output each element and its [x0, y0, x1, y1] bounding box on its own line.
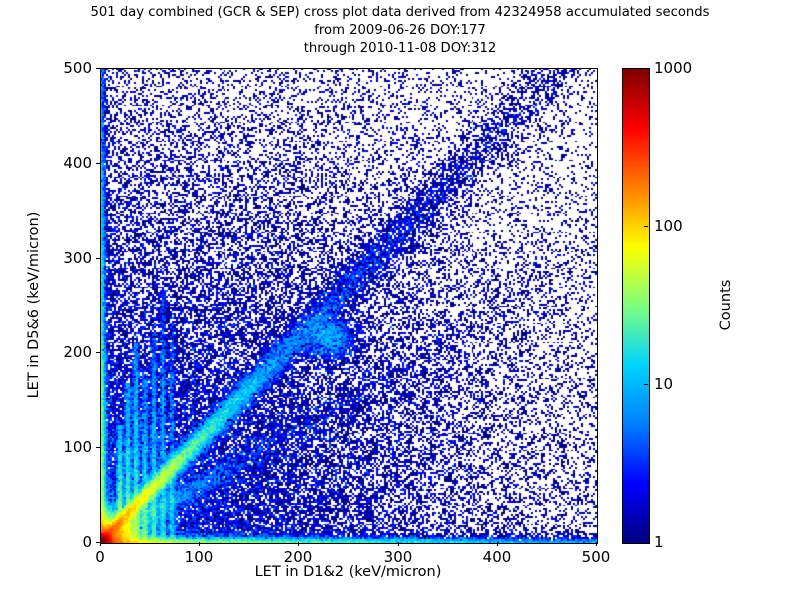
colorbar-label: Counts — [718, 68, 740, 542]
colorbar-tick-label: 1 — [654, 533, 664, 551]
title-line-1: 501 day combined (GCR & SEP) cross plot … — [0, 4, 800, 22]
y-tick-mark — [96, 68, 100, 69]
let-cross-plot-heatmap — [101, 69, 597, 543]
x-axis-label: LET in D1&2 (keV/micron) — [100, 564, 596, 580]
figure-title: 501 day combined (GCR & SEP) cross plot … — [0, 4, 800, 58]
figure-canvas: 501 day combined (GCR & SEP) cross plot … — [0, 0, 800, 600]
colorbar-tick-label: 10 — [654, 375, 673, 393]
y-tick-label: 500 — [63, 59, 92, 77]
colorbar-frame — [622, 68, 650, 544]
colorbar-tick-label: 1000 — [654, 59, 692, 77]
colorbar-tick-label: 100 — [654, 217, 683, 235]
y-tick-label: 100 — [63, 438, 92, 456]
y-tick-label: 200 — [63, 343, 92, 361]
y-tick-mark — [96, 352, 100, 353]
y-tick-mark — [96, 542, 100, 543]
colorbar-tick-mark — [644, 384, 648, 385]
colorbar-tick-mark — [644, 226, 648, 227]
title-line-2: from 2009-06-26 DOY:177 — [0, 22, 800, 40]
plot-axes-frame — [100, 68, 598, 544]
title-line-3: through 2010-11-08 DOY:312 — [0, 40, 800, 58]
x-tick-mark — [398, 542, 399, 546]
y-tick-mark — [96, 163, 100, 164]
y-axis-label: LET in D5&6 (keV/micron) — [26, 68, 48, 542]
x-tick-mark — [199, 542, 200, 546]
x-tick-mark — [497, 542, 498, 546]
y-tick-label: 300 — [63, 249, 92, 267]
x-tick-mark — [298, 542, 299, 546]
x-tick-mark — [100, 542, 101, 546]
y-tick-mark — [96, 258, 100, 259]
x-tick-mark — [596, 542, 597, 546]
y-tick-label: 0 — [82, 533, 92, 551]
y-tick-mark — [96, 447, 100, 448]
y-tick-label: 400 — [63, 154, 92, 172]
colorbar-gradient — [623, 69, 649, 543]
